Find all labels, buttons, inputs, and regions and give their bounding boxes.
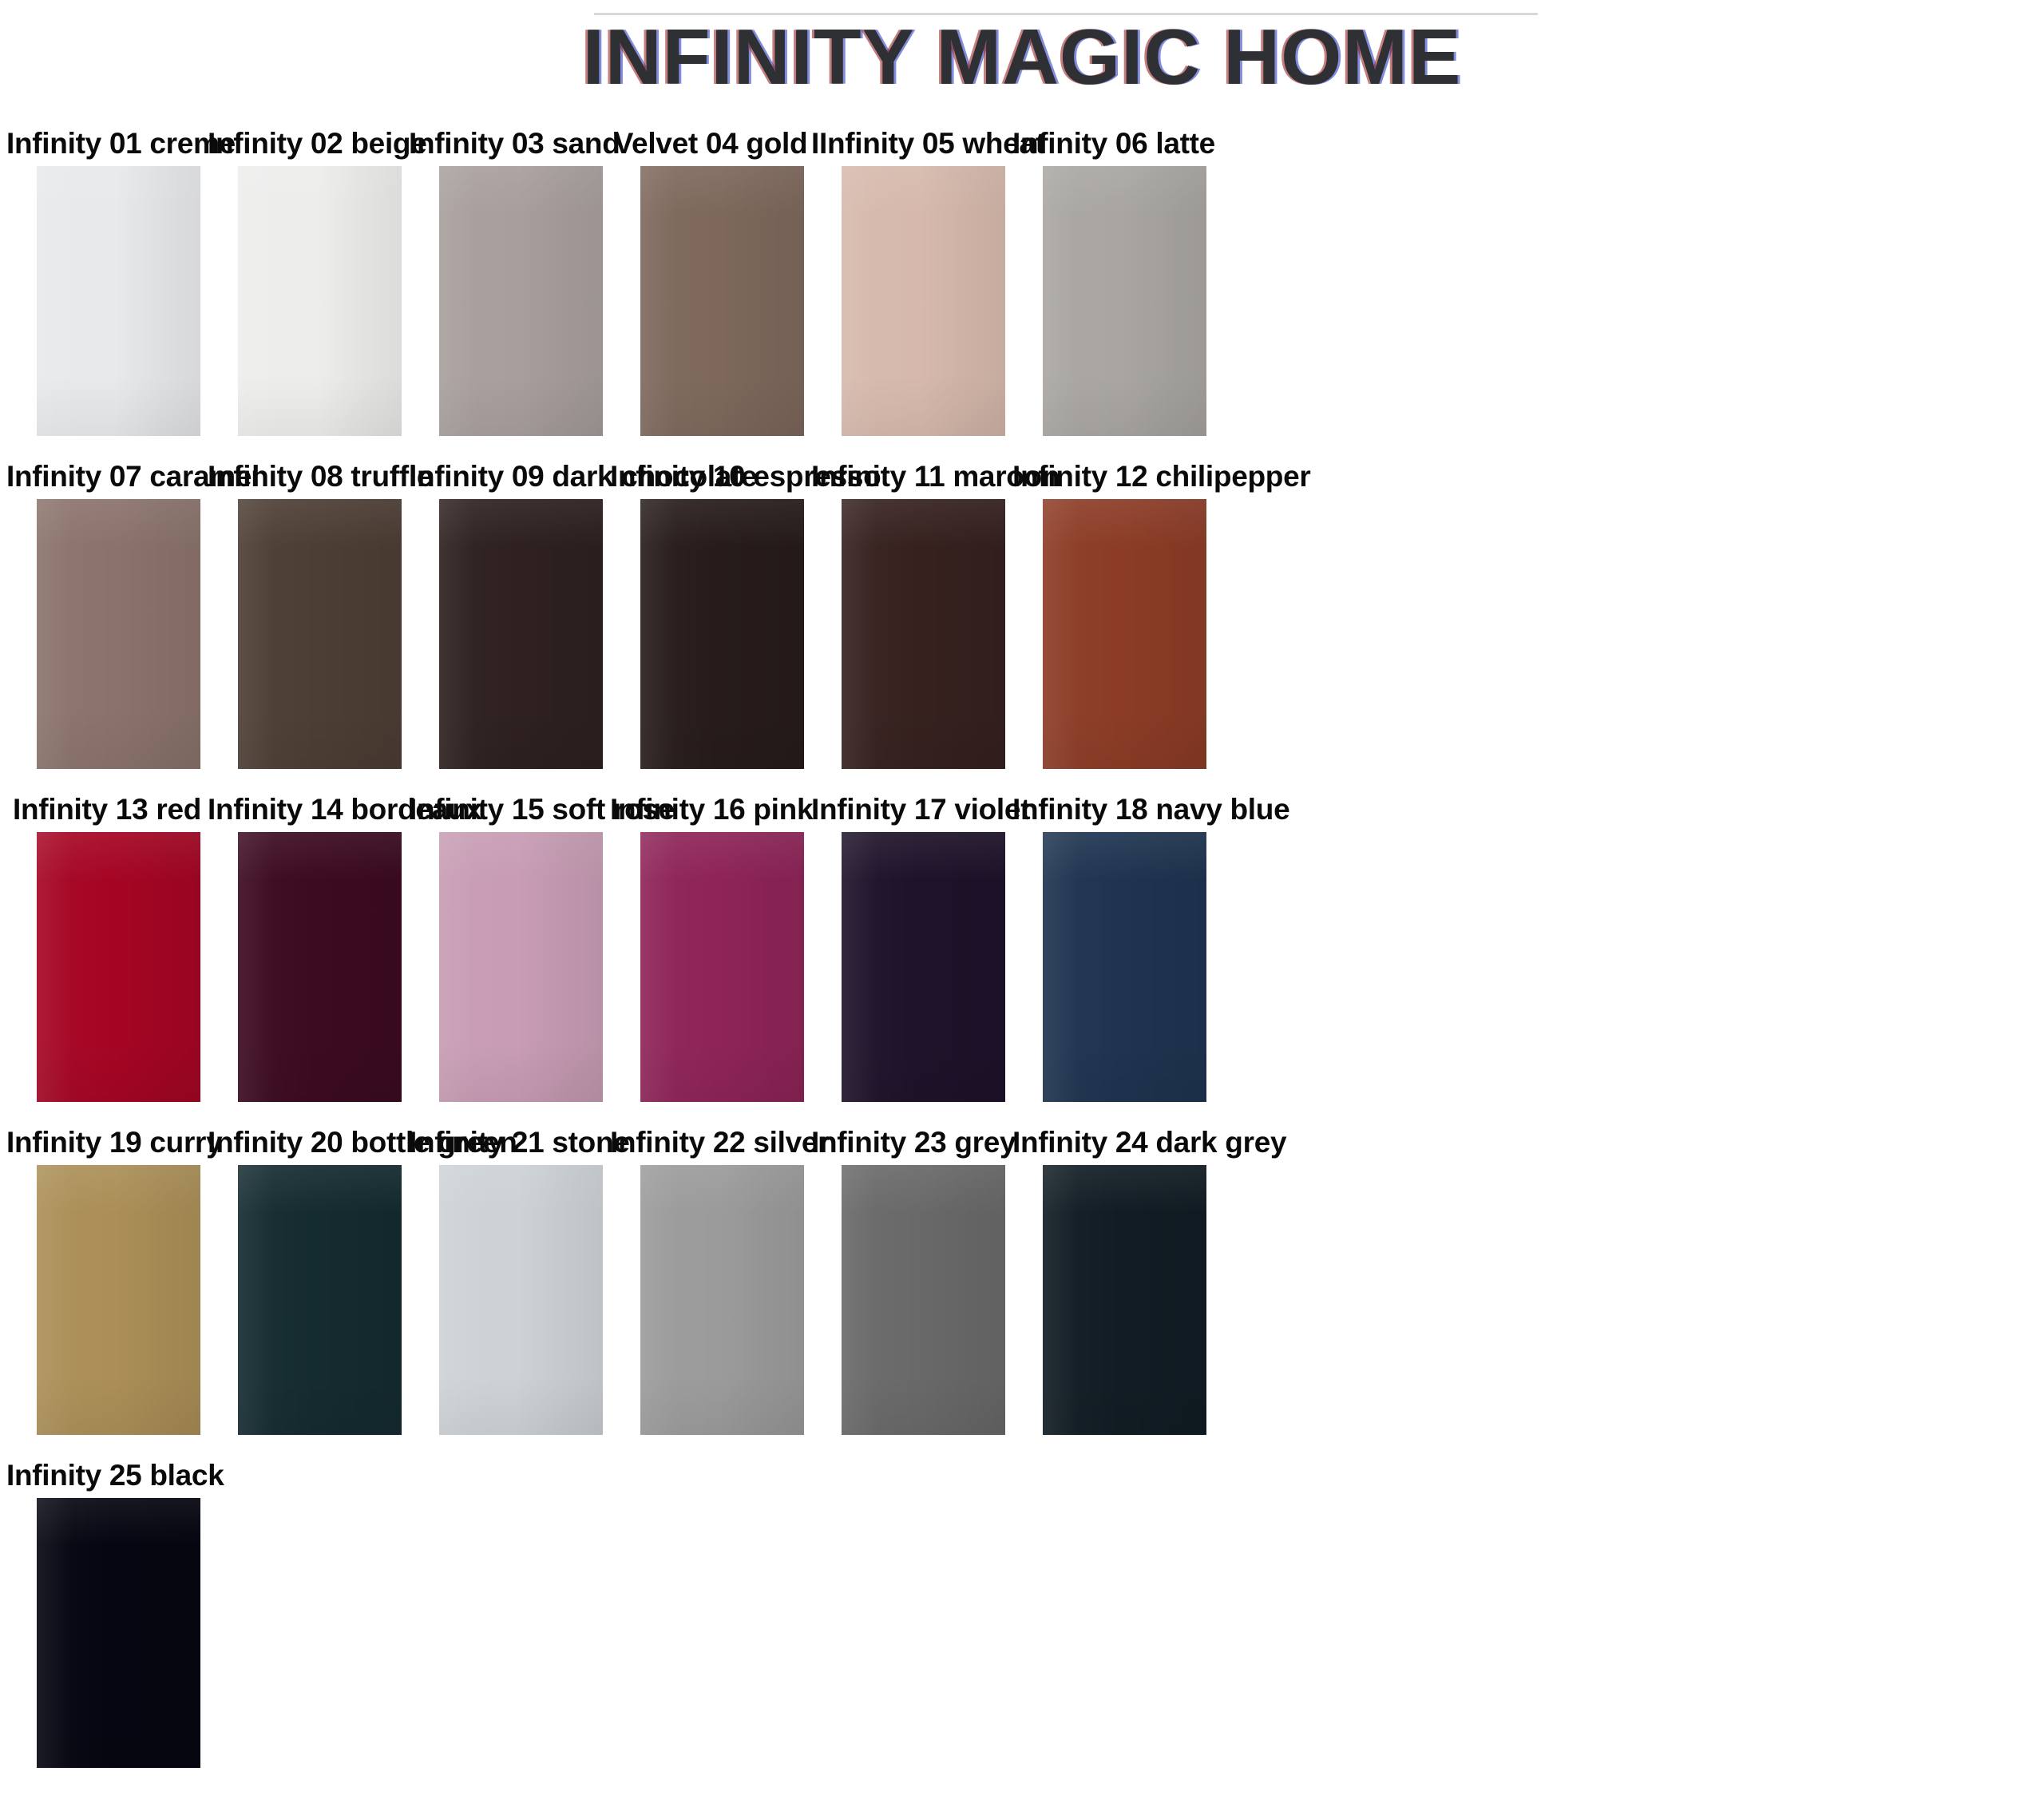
page-header: INFINITY MAGIC HOME — [0, 0, 2044, 121]
swatch-cell[interactable]: Infinity 09 dark chocolate — [409, 454, 610, 769]
swatch-label: Infinity 22 silver — [610, 1120, 811, 1165]
swatch-cell[interactable]: Infinity 20 bottle green — [208, 1120, 409, 1435]
swatch-label: Infinity 15 soft rose — [409, 787, 610, 832]
color-swatch[interactable] — [37, 832, 200, 1102]
page-title: INFINITY MAGIC HOME — [0, 18, 2044, 97]
swatch-label: Infinity 12 chilipepper — [1012, 454, 1214, 499]
swatch-label: Infinity 07 caramel — [6, 454, 208, 499]
color-swatch[interactable] — [842, 1165, 1005, 1435]
color-swatch[interactable] — [439, 499, 603, 769]
color-swatch[interactable] — [439, 1165, 603, 1435]
swatch-cell[interactable]: Infinity 16 pink — [610, 787, 811, 1102]
swatch-row: Infinity 25 black — [0, 1453, 2044, 1786]
swatch-cell[interactable]: Infinity 17 violet — [811, 787, 1012, 1102]
swatch-cell[interactable]: Infinity 18 navy blue — [1012, 787, 1214, 1102]
swatch-label: Infinity 20 bottle green — [208, 1120, 409, 1165]
swatch-label: Infinity 17 violet — [811, 787, 1012, 832]
color-swatch[interactable] — [238, 832, 402, 1102]
swatch-cell[interactable]: Infinity 07 caramel — [6, 454, 208, 769]
color-swatch[interactable] — [842, 832, 1005, 1102]
swatch-label: Infinity 08 truffle — [208, 454, 409, 499]
swatch-cell[interactable]: Infinity 03 sand — [409, 121, 610, 436]
color-swatch[interactable] — [640, 1165, 804, 1435]
color-swatch-grid: Infinity 01 cremeInfinity 02 beigeInfini… — [0, 121, 2044, 1786]
color-swatch[interactable] — [1043, 499, 1206, 769]
swatch-label: Infinity 13 red — [6, 787, 208, 832]
color-swatch[interactable] — [439, 832, 603, 1102]
color-swatch[interactable] — [1043, 832, 1206, 1102]
color-swatch[interactable] — [640, 166, 804, 436]
color-swatch[interactable] — [842, 166, 1005, 436]
swatch-cell[interactable]: Infinity 06 latte — [1012, 121, 1214, 436]
swatch-label: Infinity 03 sand — [409, 121, 610, 166]
swatch-cell[interactable]: Infinity 10 espresso — [610, 454, 811, 769]
swatch-label: Infinity 18 navy blue — [1012, 787, 1214, 832]
swatch-label: Infinity 19 curry — [6, 1120, 208, 1165]
swatch-label: Velvet 04 gold — [610, 121, 811, 166]
swatch-cell[interactable]: Infinity 12 chilipepper — [1012, 454, 1214, 769]
color-swatch[interactable] — [1043, 1165, 1206, 1435]
swatch-cell[interactable]: Infinity 23 grey — [811, 1120, 1012, 1435]
swatch-label: Infinity 24 dark grey — [1012, 1120, 1214, 1165]
color-swatch[interactable] — [37, 1165, 200, 1435]
color-swatch[interactable] — [37, 166, 200, 436]
color-swatch[interactable] — [640, 832, 804, 1102]
color-swatch[interactable] — [37, 499, 200, 769]
swatch-label: Infinity 23 grey — [811, 1120, 1012, 1165]
swatch-row: Infinity 07 caramelInfinity 08 truffleIn… — [0, 454, 2044, 787]
color-swatch[interactable] — [238, 499, 402, 769]
swatch-cell[interactable]: Infinity 25 black — [6, 1453, 208, 1768]
swatch-cell[interactable]: Infinity 13 red — [6, 787, 208, 1102]
swatch-label: IInfinity 05 wheat — [811, 121, 1012, 166]
swatch-label: Infinity 14 bordeaux — [208, 787, 409, 832]
swatch-label: Infinity 02 beige — [208, 121, 409, 166]
swatch-cell[interactable]: Infinity 19 curry — [6, 1120, 208, 1435]
color-swatch[interactable] — [640, 499, 804, 769]
swatch-label: Infinity 21 stone — [409, 1120, 610, 1165]
swatch-row: Infinity 01 cremeInfinity 02 beigeInfini… — [0, 121, 2044, 454]
swatch-label: Infinity 06 latte — [1012, 121, 1214, 166]
swatch-row: Infinity 13 redInfinity 14 bordeauxInfin… — [0, 787, 2044, 1120]
color-swatch[interactable] — [439, 166, 603, 436]
swatch-cell[interactable]: Velvet 04 gold — [610, 121, 811, 436]
swatch-cell[interactable]: Infinity 01 creme — [6, 121, 208, 436]
swatch-label: Infinity 11 maroon — [811, 454, 1012, 499]
color-swatch[interactable] — [37, 1498, 200, 1768]
swatch-cell[interactable]: Infinity 14 bordeaux — [208, 787, 409, 1102]
swatch-cell[interactable]: Infinity 15 soft rose — [409, 787, 610, 1102]
color-swatch[interactable] — [238, 1165, 402, 1435]
swatch-cell[interactable]: Infinity 22 silver — [610, 1120, 811, 1435]
swatch-label: Infinity 09 dark chocolate — [409, 454, 610, 499]
swatch-row: Infinity 19 curryInfinity 20 bottle gree… — [0, 1120, 2044, 1453]
color-swatch[interactable] — [1043, 166, 1206, 436]
swatch-cell[interactable]: IInfinity 05 wheat — [811, 121, 1012, 436]
swatch-label: Infinity 25 black — [6, 1453, 208, 1498]
swatch-cell[interactable]: Infinity 02 beige — [208, 121, 409, 436]
swatch-cell[interactable]: Infinity 24 dark grey — [1012, 1120, 1214, 1435]
swatch-cell[interactable]: Infinity 08 truffle — [208, 454, 409, 769]
swatch-label: Infinity 10 espresso — [610, 454, 811, 499]
swatch-label: Infinity 16 pink — [610, 787, 811, 832]
swatch-label: Infinity 01 creme — [6, 121, 208, 166]
color-swatch[interactable] — [842, 499, 1005, 769]
swatch-cell[interactable]: Infinity 11 maroon — [811, 454, 1012, 769]
color-swatch[interactable] — [238, 166, 402, 436]
swatch-cell[interactable]: Infinity 21 stone — [409, 1120, 610, 1435]
